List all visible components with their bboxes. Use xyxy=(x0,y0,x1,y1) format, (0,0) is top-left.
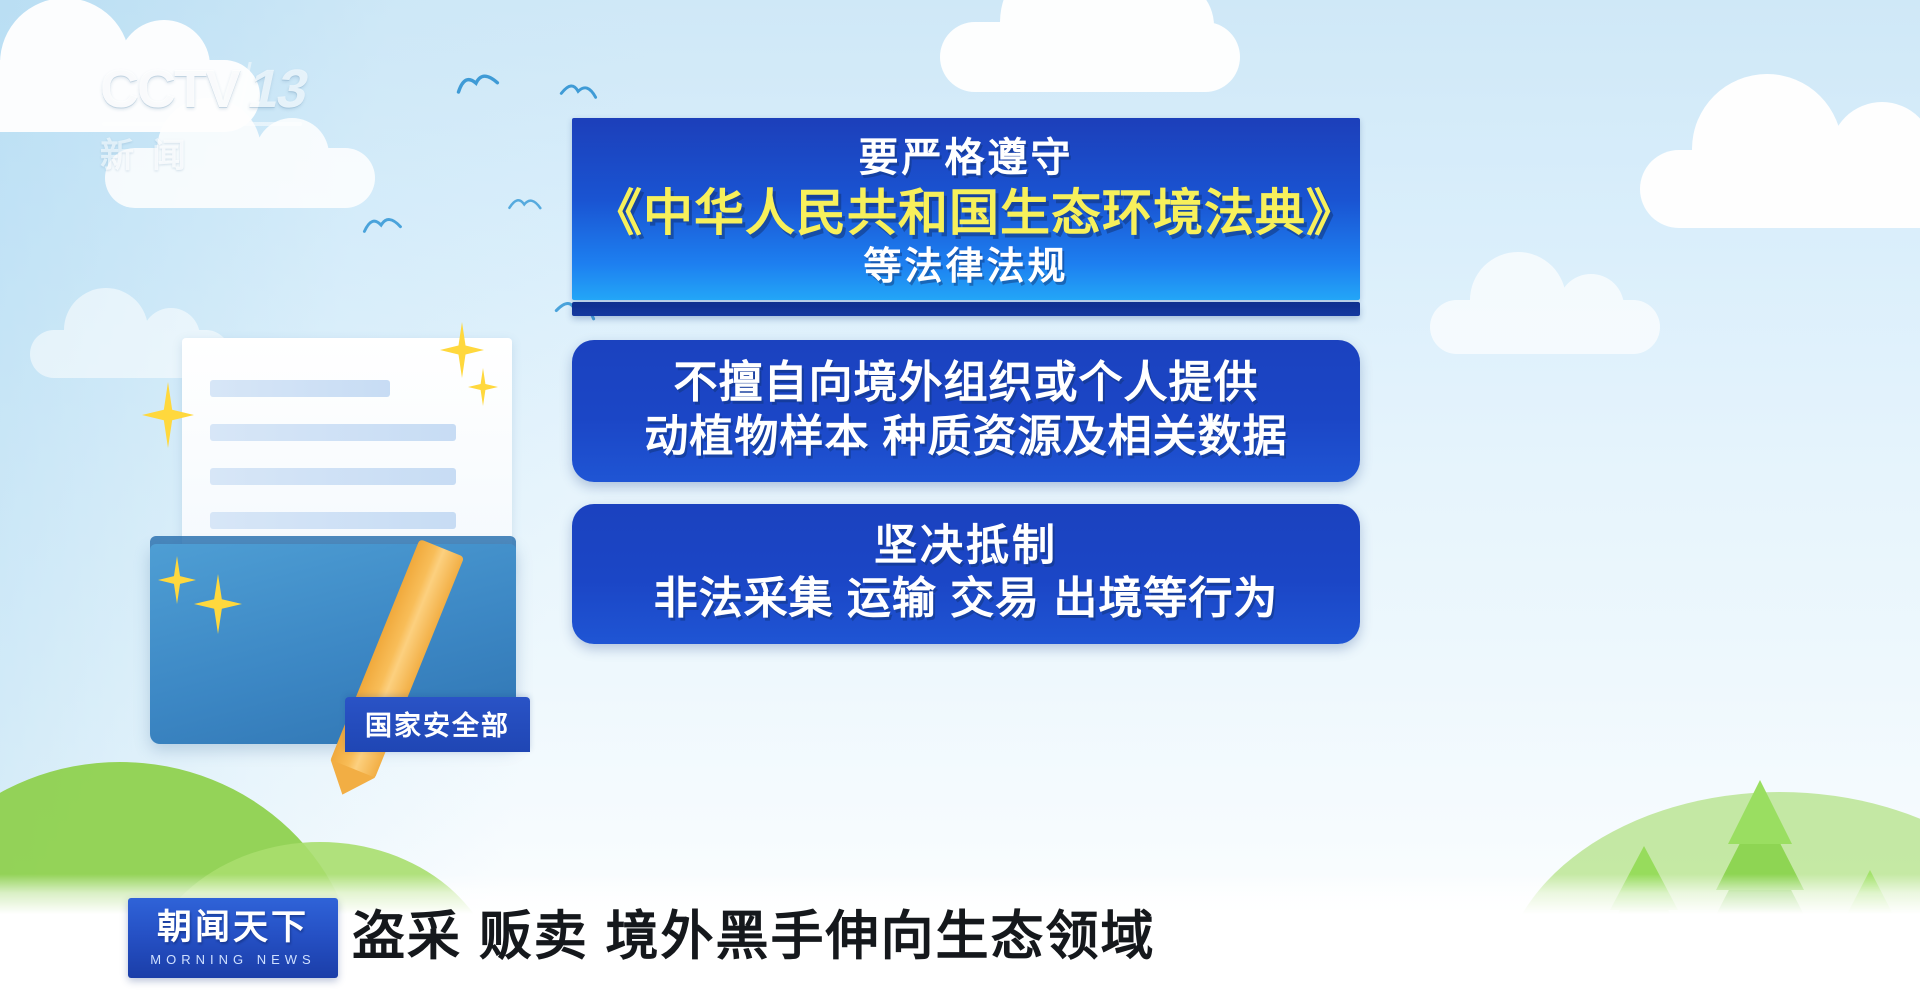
document-line xyxy=(210,468,456,485)
info-box-line: 要严格遵守 xyxy=(592,134,1340,183)
info-box-regulations: 要严格遵守 《中华人民共和国生态环境法典》 等法律法规 xyxy=(572,118,1360,300)
cloud-icon xyxy=(940,22,1240,92)
headline-text: 盗采 贩卖 境外黑手伸向生态领域 xyxy=(352,894,1155,970)
info-box-line: 动植物样本 种质资源及相关数据 xyxy=(592,410,1340,464)
spacer xyxy=(572,316,1360,340)
program-name-en: MORNING NEWS xyxy=(150,952,315,967)
info-box-line: 不擅自向境外组织或个人提供 xyxy=(592,356,1340,410)
sparkle-icon xyxy=(468,368,498,406)
info-box-underbar xyxy=(572,302,1360,316)
sparkle-icon xyxy=(142,382,194,448)
program-logo: 朝闻天下 MORNING NEWS xyxy=(128,898,338,978)
info-box-line: 等法律法规 xyxy=(592,244,1340,290)
spacer xyxy=(572,482,1360,504)
document-line xyxy=(210,512,456,529)
info-box-resist-illegal: 坚决抵制 非法采集 运输 交易 出境等行为 xyxy=(572,504,1360,644)
info-box-group: 要严格遵守 《中华人民共和国生态环境法典》 等法律法规 不擅自向境外组织或个人提… xyxy=(572,118,1360,644)
bird-icon xyxy=(361,213,403,237)
cctv-logo-text: CCTV13 xyxy=(100,62,320,116)
cctv-logo-letters: CCTV xyxy=(100,59,239,119)
info-box-line: 坚决抵制 xyxy=(592,520,1340,572)
cctv-logo-cn: 新闻 xyxy=(100,128,320,177)
source-tag: 国家安全部 xyxy=(345,697,530,752)
sparkle-icon xyxy=(158,556,196,604)
broadcast-frame: CCTV13 新闻 要严格遵守 《中华人民共和国生态环境法典》 等法律法规 xyxy=(0,0,1920,992)
program-name-cn: 朝闻天下 xyxy=(157,910,309,945)
cctv-channel-logo: CCTV13 新闻 xyxy=(100,62,320,172)
info-box-line-highlight: 《中华人民共和国生态环境法典》 xyxy=(592,183,1340,244)
cctv-logo-rule xyxy=(102,122,302,126)
cloud-icon xyxy=(1430,300,1660,354)
info-box-no-unauthorized-provision: 不擅自向境外组织或个人提供 动植物样本 种质资源及相关数据 xyxy=(572,340,1360,481)
lower-third-banner: 朝闻天下 MORNING NEWS 盗采 贩卖 境外黑手伸向生态领域 xyxy=(0,874,1920,992)
info-box-line: 非法采集 运输 交易 出境等行为 xyxy=(592,572,1340,626)
document-line xyxy=(210,380,390,397)
document-icon xyxy=(150,330,580,760)
cctv-channel-number: 13 xyxy=(237,62,316,116)
bird-icon xyxy=(508,195,543,213)
document-line xyxy=(210,424,456,441)
sparkle-icon xyxy=(194,574,242,634)
cloud-icon xyxy=(1640,150,1920,228)
